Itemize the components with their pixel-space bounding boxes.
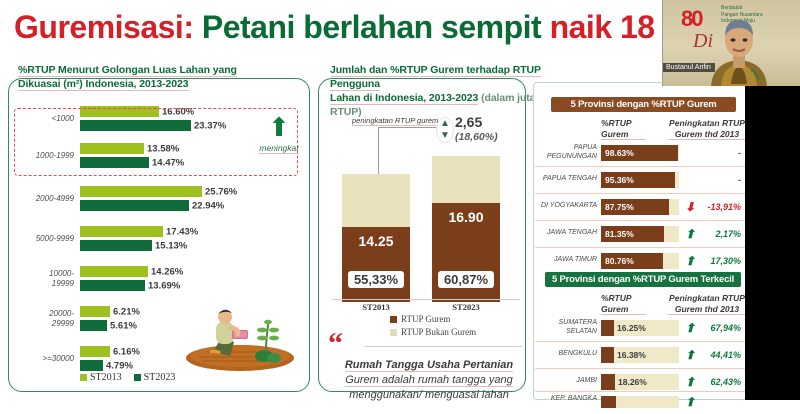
bar-value-label: 6.21% bbox=[113, 306, 140, 317]
page-title: Guremisasi: Petani berlahan sempit naik … bbox=[14, 4, 674, 50]
speaker-video-figure bbox=[707, 14, 771, 86]
stacked-bar-st2023: 16.90 60,87% bbox=[432, 156, 500, 302]
quote-icon: “ bbox=[328, 332, 343, 356]
arrow-up-icon: ⬆ bbox=[685, 226, 695, 242]
mid-chart-legend: RTUP Gurem RTUP Bukan Gurem bbox=[390, 313, 476, 339]
mid-chart-title: Jumlah dan %RTUP Gurem terhadap RTUP Pen… bbox=[330, 63, 545, 119]
legend-item-rtup-gurem: RTUP Gurem bbox=[390, 313, 476, 326]
table1-col2-line1: Peningkatan RTUP bbox=[669, 118, 745, 128]
row-bar-fill bbox=[601, 374, 615, 390]
row-bar-track: 95.36% bbox=[601, 172, 679, 188]
left-chart-legend: ST2013 ST2023 bbox=[80, 372, 280, 383]
row-pct-value: 16.38% bbox=[617, 347, 646, 363]
row-delta-value: ⬆ 67,94% bbox=[683, 320, 745, 336]
bar-st2023: 5.61% bbox=[80, 320, 107, 331]
table1-col2-header: Peningkatan RTUP Gurem thd 2013 bbox=[668, 118, 746, 140]
row-delta-value: - bbox=[683, 145, 745, 161]
row-pct-value: 95.36% bbox=[605, 172, 634, 188]
row-pct-value: 16.25% bbox=[617, 320, 646, 336]
row-bar-track: 16.25% bbox=[601, 320, 679, 336]
legend-item-st2013: ST2013 bbox=[80, 372, 122, 383]
divider bbox=[535, 166, 745, 167]
screen-black-margin bbox=[745, 86, 800, 400]
row-province-label: PAPUA TENGAH bbox=[535, 174, 597, 183]
arrow-up-icon: ⬆ bbox=[685, 253, 695, 269]
presentation-slide: Guremisasi: Petani berlahan sempit naik … bbox=[0, 0, 800, 400]
chart-axis-line bbox=[332, 299, 520, 300]
segment-value: 14.25 bbox=[342, 233, 410, 249]
bar-st2013: 6.16% bbox=[80, 346, 110, 357]
legend-swatch-icon bbox=[390, 316, 397, 323]
bar-st2023: 4.79% bbox=[80, 360, 103, 371]
row-province-label: JAWA TENGAH bbox=[535, 228, 597, 237]
anniversary-logo: 80 bbox=[681, 6, 701, 32]
title-part-3: naik 18 bbox=[550, 9, 655, 45]
segment-gurem: 16.90 60,87% bbox=[432, 203, 500, 302]
table-row[interactable]: PAPUA TENGAH 95.36% - bbox=[533, 170, 748, 192]
bar-st2013: 25.76% bbox=[80, 186, 202, 197]
legend-swatch-icon bbox=[390, 329, 397, 336]
table1-heading: 5 Provinsi dengan %RTUP Gurem Terbesar 2… bbox=[551, 97, 736, 112]
table2-heading: 5 Provinsi dengan %RTUP Gurem Terkecil 2… bbox=[545, 272, 741, 287]
table2-col2-header: Peningkatan RTUP Gurem thd 2013 bbox=[668, 293, 746, 315]
annotation-percent: (18,60%) bbox=[455, 131, 498, 143]
row-delta-value: ⬆ 44,41% bbox=[683, 347, 745, 363]
row-bar-track: 81.35% bbox=[601, 226, 679, 242]
bar-value-label: 4.79% bbox=[106, 360, 133, 371]
row-pct-value: 81.35% bbox=[605, 226, 634, 242]
row-bar-fill bbox=[601, 320, 614, 336]
row-province-label: KEP. BANGKA bbox=[535, 394, 597, 403]
arrow-down-icon: ⬇ bbox=[685, 199, 695, 215]
left-chart-title-line1: %RTUP Menurut Golongan Luas Lahan yang bbox=[18, 64, 237, 77]
definition-line1: Rumah Tangga Usaha Pertanian bbox=[345, 359, 513, 372]
arrow-up-icon: ⬆ bbox=[685, 320, 695, 336]
bar-st2013: 6.21% bbox=[80, 306, 110, 317]
table-row[interactable]: PAPUA PEGUNUNGAN 98.63% - bbox=[533, 143, 748, 165]
row-province-label: PAPUA PEGUNUNGAN bbox=[535, 143, 597, 161]
bar-st2013: 14.26% bbox=[80, 266, 148, 277]
row-pct-value: 18.26% bbox=[618, 374, 647, 390]
stacked-bar-st2013: 14.25 55,33% bbox=[342, 174, 410, 302]
bar-value-label: 14.26% bbox=[151, 266, 183, 277]
x-axis-label-st2013: ST2013 bbox=[342, 302, 410, 312]
divider bbox=[535, 220, 745, 221]
bar-value-label: 5.61% bbox=[110, 320, 137, 331]
row-delta-value: ⬆ 62,43% bbox=[683, 374, 745, 390]
divider bbox=[364, 346, 522, 347]
title-part-2: Petani berlahan sempit bbox=[202, 9, 550, 45]
arrow-up-down-icon: ▲▼ bbox=[437, 118, 453, 142]
x-axis-label-st2023: ST2023 bbox=[432, 302, 500, 312]
definition-line3: menggunakan/ menguasai lahan bbox=[349, 389, 509, 401]
bar-category-label: 5000-9999 bbox=[12, 234, 74, 244]
row-bar-fill bbox=[601, 396, 616, 408]
row-bar-track: 80.76% bbox=[601, 253, 679, 269]
table-row[interactable]: SUMATERA SELATAN 16.25% ⬆ 67,94% bbox=[533, 318, 748, 340]
table1-col1-line2: Gurem bbox=[601, 129, 628, 139]
row-province-label: JAWA TIMUR bbox=[535, 255, 597, 264]
arrow-up-icon: ⬆ bbox=[256, 116, 302, 138]
bar-category-label: 10000-19999 bbox=[12, 269, 74, 288]
legend-label: RTUP Bukan Gurem bbox=[401, 326, 476, 339]
row-bar-track: 16.38% bbox=[601, 347, 679, 363]
segment-percent: 55,33% bbox=[348, 271, 404, 288]
legend-item-rtup-bukan-gurem: RTUP Bukan Gurem bbox=[390, 326, 476, 339]
row-province-label: DI YOGYAKARTA bbox=[535, 201, 597, 210]
bar-st2023: 22.94% bbox=[80, 200, 189, 211]
left-chart-title: %RTUP Menurut Golongan Luas Lahan yang D… bbox=[18, 63, 308, 91]
definition-text: Rumah Tangga Usaha Pertanian Gurem adala… bbox=[334, 358, 524, 403]
row-delta-value: ⬆ 2,17% bbox=[683, 226, 745, 242]
segment-percent: 60,87% bbox=[438, 271, 494, 288]
table-row[interactable]: BENGKULU 16.38% ⬆ 44,41% bbox=[533, 345, 748, 367]
row-pct-value: 87.75% bbox=[605, 199, 634, 215]
definition-line2: Gurem adalah rumah tangga yang bbox=[345, 374, 513, 387]
row-delta-value: ⬆ 17,30% bbox=[683, 253, 745, 269]
legend-swatch-icon bbox=[134, 374, 141, 381]
table2-col2-line1: Peningkatan RTUP bbox=[669, 293, 745, 303]
legend-label: RTUP Gurem bbox=[401, 313, 450, 326]
divider bbox=[535, 341, 745, 342]
table-row[interactable]: JAWA TIMUR 80.76% ⬆ 17,30% bbox=[533, 251, 748, 273]
title-part-1: Guremisasi: bbox=[14, 9, 202, 45]
bar-value-label: 22.94% bbox=[192, 200, 224, 211]
row-province-label: BENGKULU bbox=[535, 349, 597, 358]
increase-indicator: ⬆ meningkat bbox=[256, 116, 302, 156]
row-bar-track: 98.63% bbox=[601, 145, 679, 161]
arrow-up-icon: ⬆ bbox=[685, 374, 695, 390]
arrow-up-icon: ⬆ bbox=[685, 347, 695, 363]
farmer-planting-illustration bbox=[178, 300, 298, 372]
row-pct-value: 80.76% bbox=[605, 253, 634, 269]
table2-col1-line1: %RTUP bbox=[601, 293, 632, 303]
row-delta-value: - bbox=[683, 172, 745, 188]
table-row[interactable]: KEP. BANGKA ⬆ bbox=[533, 392, 748, 414]
annotation-caption: peningkatan RTUP gurem bbox=[352, 116, 438, 126]
table2-col2-line2: Gurem thd 2013 bbox=[675, 304, 739, 314]
bar-category-label: 2000-4999 bbox=[12, 194, 74, 204]
table-row[interactable]: DI YOGYAKARTA 87.75% ⬇ -13,91% bbox=[533, 197, 748, 219]
annotation-connector bbox=[378, 127, 440, 175]
table2-col1-header: %RTUP Gurem bbox=[601, 293, 646, 315]
segment-bukan-gurem bbox=[342, 174, 410, 227]
increase-label: meningkat bbox=[259, 143, 298, 154]
left-chart-title-line2: Dikuasai (m²) Indonesia, 2013-2023 bbox=[18, 78, 189, 91]
bar-category-label: >=30000 bbox=[12, 354, 74, 364]
legend-item-st2023: ST2023 bbox=[134, 372, 176, 383]
bar-category-label: 20000-29999 bbox=[12, 309, 74, 328]
mid-chart-title-line1: Jumlah dan %RTUP Gurem terhadap RTUP Pen… bbox=[330, 64, 541, 91]
table1-col2-line2: Gurem thd 2013 bbox=[675, 129, 739, 139]
legend-label: ST2013 bbox=[90, 372, 122, 383]
row-delta-value: ⬆ bbox=[683, 394, 745, 410]
bar-value-label: 13.69% bbox=[148, 280, 180, 291]
bar-st2013: 17.43% bbox=[80, 226, 163, 237]
row-delta-value: ⬇ -13,91% bbox=[683, 199, 745, 215]
webcam-overlay[interactable]: 80 Berdaulat Pangan Nusantara Indonesia … bbox=[662, 0, 800, 86]
legend-label: ST2023 bbox=[144, 372, 176, 383]
divider bbox=[535, 193, 745, 194]
bar-value-label: 6.16% bbox=[113, 346, 140, 357]
table-row[interactable]: JAWA TENGAH 81.35% ⬆ 2,17% bbox=[533, 224, 748, 246]
segment-value: 16.90 bbox=[432, 209, 500, 225]
row-province-label: JAMBI bbox=[535, 376, 597, 385]
mid-chart-title-line2: Lahan di Indonesia, 2013-2023 bbox=[330, 92, 478, 105]
row-province-label: SUMATERA SELATAN bbox=[535, 318, 597, 336]
row-bar-fill bbox=[601, 347, 614, 363]
table1-col1-header: %RTUP Gurem bbox=[601, 118, 646, 140]
table2-col1-line2: Gurem bbox=[601, 304, 628, 314]
speaker-name-label: Bustanul Arifin bbox=[663, 63, 715, 72]
row-bar-track: 87.75% bbox=[601, 199, 679, 215]
bar-value-label: 17.43% bbox=[166, 226, 198, 237]
arrow-up-icon: ⬆ bbox=[685, 394, 695, 410]
annotation-value: 2,65 bbox=[455, 114, 482, 130]
row-pct-value: 98.63% bbox=[605, 145, 634, 161]
bar-st2023: 15.13% bbox=[80, 240, 152, 251]
bar-value-label: 25.76% bbox=[205, 186, 237, 197]
row-bar-track bbox=[601, 396, 679, 408]
table1-col1-line1: %RTUP bbox=[601, 118, 632, 128]
segment-gurem: 14.25 55,33% bbox=[342, 227, 410, 302]
legend-swatch-icon bbox=[80, 374, 87, 381]
bar-value-label: 15.13% bbox=[155, 240, 187, 251]
stacked-bar-chart: 14.25 55,33% 16.90 60,87% bbox=[330, 170, 520, 302]
bar-st2023: 13.69% bbox=[80, 280, 145, 291]
divider bbox=[535, 247, 745, 248]
divider bbox=[535, 368, 745, 369]
segment-bukan-gurem bbox=[432, 156, 500, 203]
row-bar-track: 18.26% bbox=[601, 374, 679, 390]
